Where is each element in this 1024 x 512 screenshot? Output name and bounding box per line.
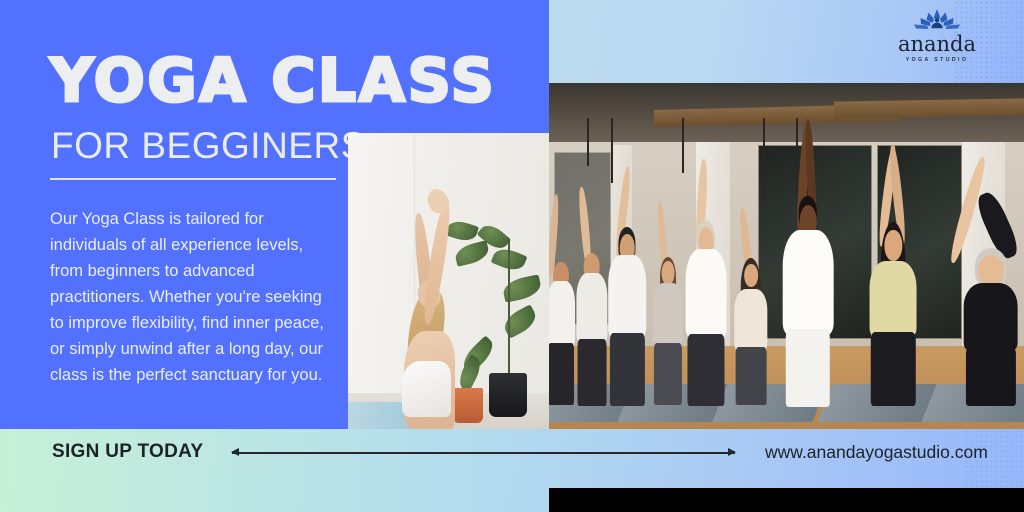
photo-woman-stretching xyxy=(348,133,549,429)
website-url[interactable]: www.anandayogastudio.com xyxy=(765,442,988,463)
terracotta-plant-pot xyxy=(453,388,483,424)
legs xyxy=(549,343,574,405)
legs xyxy=(735,347,766,405)
yoga-practitioner xyxy=(606,166,649,401)
legs xyxy=(577,339,606,405)
head xyxy=(885,230,902,261)
divider-rule xyxy=(50,178,336,180)
torso xyxy=(783,230,834,335)
torso xyxy=(653,283,683,347)
woman-sports-top xyxy=(402,361,450,417)
legs xyxy=(687,334,724,407)
page-title: YOGA CLASS xyxy=(50,51,496,111)
yoga-practitioner xyxy=(682,159,730,401)
body-paragraph: Our Yoga Class is tailored for individua… xyxy=(50,206,335,388)
torso xyxy=(685,249,726,339)
yoga-practitioner xyxy=(730,208,773,402)
torso xyxy=(549,281,575,347)
torso xyxy=(963,283,1018,352)
torso xyxy=(576,273,607,344)
black-plant-pot xyxy=(489,373,527,417)
sign-up-cta-label[interactable]: SIGN UP TODAY xyxy=(52,441,203,463)
arrow-right-icon xyxy=(728,448,736,456)
logo-wordmark: ananda xyxy=(878,35,996,55)
torso xyxy=(734,289,767,351)
yoga-class-poster: ananda YOGA STUDIO YOGA CLASS FOR BEGGIN… xyxy=(0,0,1024,512)
legs xyxy=(786,329,830,407)
yoga-practitioner xyxy=(863,145,925,401)
torso xyxy=(609,255,647,337)
lotus-meditation-icon xyxy=(907,8,967,34)
arrow-line xyxy=(232,452,735,454)
torso xyxy=(870,261,917,338)
head xyxy=(661,261,674,285)
photo-group-class xyxy=(549,83,1024,429)
page-subtitle: FOR BEGGINERS xyxy=(51,127,366,164)
yoga-practitioner xyxy=(777,125,839,402)
head xyxy=(744,264,758,287)
black-footer-band xyxy=(549,488,1024,512)
ceiling-rig-strap xyxy=(587,118,589,166)
legs xyxy=(610,333,644,406)
legs xyxy=(871,332,915,406)
ceiling-rig-strap xyxy=(763,118,765,201)
logo-tagline: YOGA STUDIO xyxy=(878,58,996,63)
yoga-practitioner xyxy=(953,173,1024,401)
brand-logo[interactable]: ananda YOGA STUDIO xyxy=(878,8,996,70)
legs xyxy=(654,343,682,405)
plant-stem xyxy=(508,240,509,379)
legs xyxy=(966,347,1016,406)
